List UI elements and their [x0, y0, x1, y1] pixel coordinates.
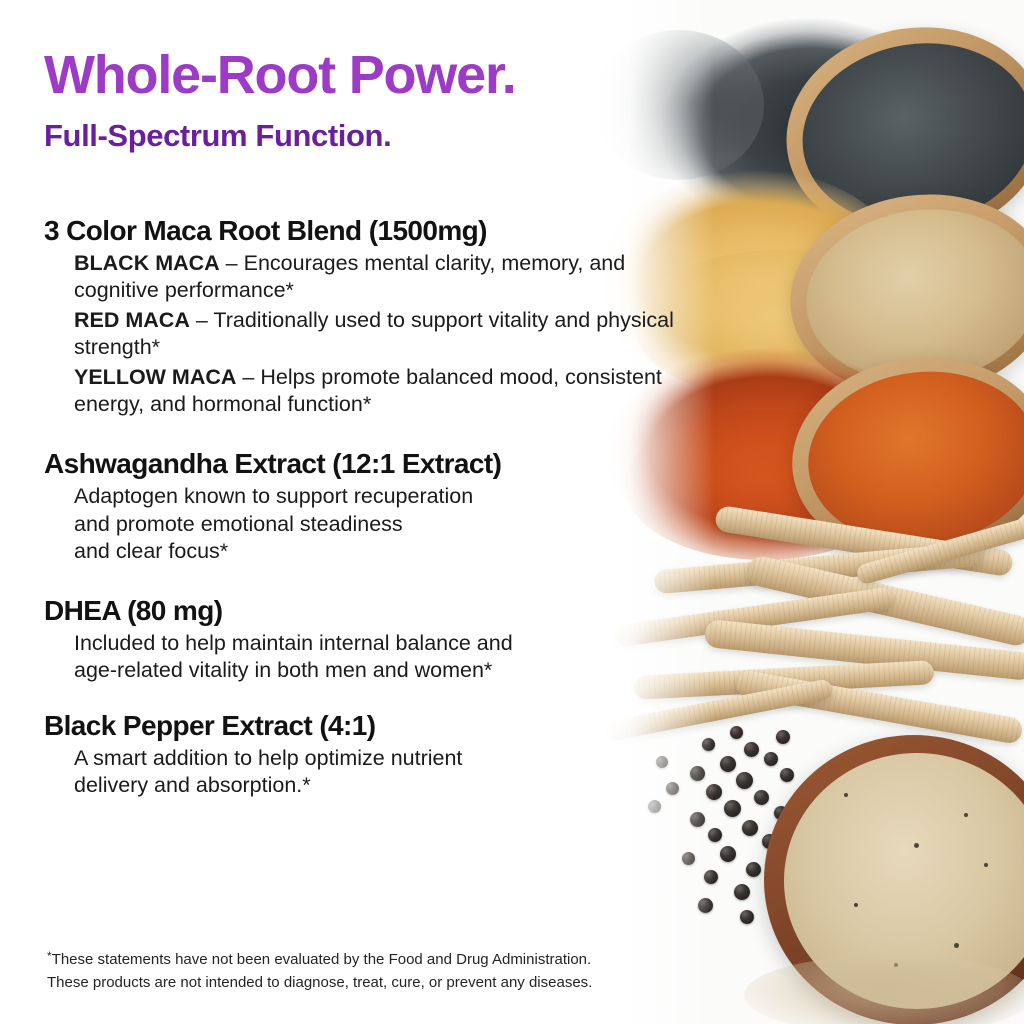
section-heading: 3 Color Maca Root Blend (1500mg) — [44, 213, 700, 248]
bullet-red-maca: RED MACA – Traditionally used to support… — [74, 307, 674, 361]
peppercorn — [720, 756, 736, 772]
section-heading: Black Pepper Extract (4:1) — [44, 708, 700, 743]
bullet-lead: RED MACA — [74, 308, 190, 332]
section-body: A smart addition to help optimize nutrie… — [74, 745, 674, 799]
section-body: BLACK MACA – Encourages mental clarity, … — [74, 250, 674, 418]
fda-disclaimer: *These statements have not been evaluate… — [47, 947, 727, 995]
body-line: A smart addition to help optimize nutrie… — [74, 745, 674, 772]
peppercorn — [776, 730, 790, 744]
peppercorn — [742, 820, 758, 836]
peppercorn — [734, 884, 750, 900]
section-body: Included to help maintain internal balan… — [74, 630, 674, 684]
page-title: Whole-Root Power. — [44, 48, 516, 102]
peppercorn — [740, 910, 754, 924]
peppercorn — [730, 726, 743, 739]
section-ashwagandha: Ashwagandha Extract (12:1 Extract) Adapt… — [0, 446, 700, 564]
section-black-pepper: Black Pepper Extract (4:1) A smart addit… — [0, 708, 700, 799]
peppercorn — [744, 742, 759, 757]
section-dhea: DHEA (80 mg) Included to help maintain i… — [0, 593, 700, 684]
bullet-lead: BLACK MACA — [74, 251, 220, 275]
disclaimer-text-1: These statements have not been evaluated… — [52, 951, 592, 968]
section-maca-blend: 3 Color Maca Root Blend (1500mg) BLACK M… — [0, 213, 700, 418]
page-subtitle: Full-Spectrum Function. — [44, 120, 391, 151]
peppercorn — [780, 768, 794, 782]
peppercorn — [698, 898, 713, 913]
body-line: and clear focus* — [74, 538, 674, 565]
body-line: Adaptogen known to support recuperation — [74, 483, 674, 510]
ingredient-sections: 3 Color Maca Root Blend (1500mg) BLACK M… — [0, 213, 700, 803]
section-body: Adaptogen known to support recuperation … — [74, 483, 674, 564]
peppercorn — [764, 752, 778, 766]
bullet-lead: YELLOW MACA — [74, 365, 236, 389]
peppercorn — [746, 862, 761, 877]
peppercorn — [708, 828, 722, 842]
disclaimer-line-2: These products are not intended to diagn… — [47, 971, 727, 994]
peppercorn — [702, 738, 715, 751]
peppercorn — [706, 784, 722, 800]
peppercorn — [754, 790, 769, 805]
section-heading: DHEA (80 mg) — [44, 593, 700, 628]
body-line: age-related vitality in both men and wom… — [74, 657, 674, 684]
peppercorn — [704, 870, 718, 884]
disclaimer-line-1: *These statements have not been evaluate… — [47, 947, 727, 971]
bullet-yellow-maca: YELLOW MACA – Helps promote balanced moo… — [74, 364, 674, 418]
product-ingredient-infographic: Whole-Root Power. Full-Spectrum Function… — [0, 0, 1024, 1024]
section-heading: Ashwagandha Extract (12:1 Extract) — [44, 446, 700, 481]
body-line: delivery and absorption.* — [74, 772, 674, 799]
bullet-black-maca: BLACK MACA – Encourages mental clarity, … — [74, 250, 674, 304]
text-column: Whole-Root Power. Full-Spectrum Function… — [0, 0, 700, 1024]
body-line: and promote emotional steadiness — [74, 511, 674, 538]
peppercorn — [724, 800, 741, 817]
body-line: Included to help maintain internal balan… — [74, 630, 674, 657]
peppercorn — [720, 846, 736, 862]
peppercorn — [736, 772, 753, 789]
